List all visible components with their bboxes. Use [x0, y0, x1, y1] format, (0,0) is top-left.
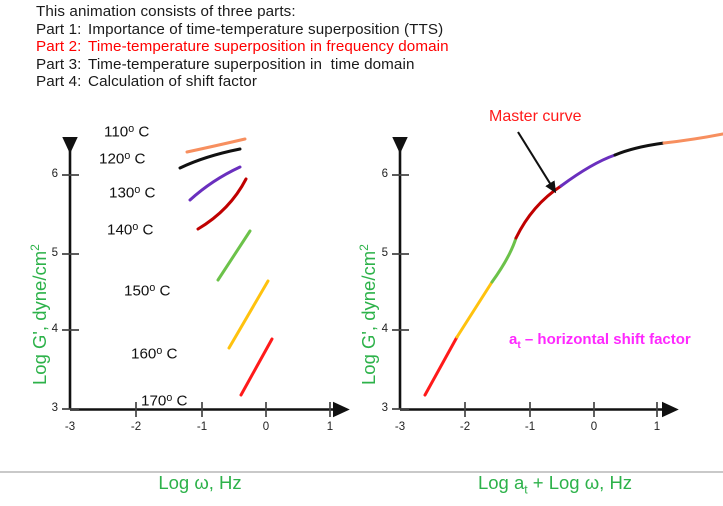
- temp-160-value: 160: [131, 345, 156, 362]
- header-line-2-label: Part 2:: [36, 38, 88, 56]
- curve-160c: [229, 281, 268, 348]
- left-ytick-5: 5: [42, 247, 58, 259]
- right-xtick-neg2: -2: [454, 421, 476, 433]
- shift-factor-text: – horizontal shift factor: [521, 331, 691, 348]
- temp-label-160c: 160o C: [131, 345, 177, 362]
- header-line-0-text: This animation consists of three parts:: [36, 3, 296, 20]
- temp-140-value: 140: [107, 221, 132, 238]
- temp-160-unit: C: [162, 345, 177, 362]
- curve-150c: [218, 231, 250, 280]
- master-seg-160c: [457, 282, 492, 337]
- left-ylabel-text: Log G', dyne/cm: [29, 251, 50, 385]
- header-line-4-text: Calculation of shift factor: [88, 73, 257, 90]
- left-xtick-0: 0: [255, 421, 277, 433]
- master-curve-label: Master curve: [489, 108, 581, 126]
- master-curve-path: [425, 134, 723, 395]
- curve-180c-170c: [241, 339, 272, 395]
- header-line-3: Part 3:Time-temperature superposition in…: [36, 56, 696, 74]
- intro-text-block: This animation consists of three parts: …: [36, 3, 696, 91]
- right-ylabel-text: Log G', dyne/cm: [358, 251, 379, 385]
- temp-110-unit: C: [134, 123, 149, 140]
- right-ylabel: Log G', dyne/cm2: [357, 244, 380, 385]
- left-ylabel-sup: 2: [28, 244, 42, 251]
- temp-label-170c: 170o C: [141, 392, 187, 409]
- right-xtick-neg1: -1: [519, 421, 541, 433]
- curve-130c: [190, 167, 240, 200]
- temp-110-value: 110: [104, 123, 128, 140]
- header-line-2-text: Time-temperature superposition in freque…: [88, 38, 449, 55]
- temp-label-140c: 140o C: [107, 221, 153, 238]
- header-line-4: Part 4:Calculation of shift factor: [36, 73, 696, 91]
- left-ytick-3: 3: [42, 402, 58, 414]
- temp-150-value: 150: [124, 282, 149, 299]
- right-ytick-4: 4: [372, 323, 388, 335]
- temp-170-unit: C: [172, 392, 187, 409]
- master-seg-120c: [615, 143, 664, 155]
- curve-110c: [187, 139, 245, 152]
- temp-150-unit: C: [155, 282, 170, 299]
- header-line-1-label: Part 1:: [36, 21, 88, 39]
- left-ytick-6: 6: [42, 168, 58, 180]
- header-line-0: This animation consists of three parts:: [36, 3, 696, 21]
- temp-130-unit: C: [140, 184, 155, 201]
- temp-130-value: 130: [109, 184, 134, 201]
- left-xtick-neg1: -1: [191, 421, 213, 433]
- header-line-1: Part 1:Importance of time-temperature su…: [36, 21, 696, 39]
- temp-label-150c: 150o C: [124, 282, 170, 299]
- master-seg-130c: [561, 155, 615, 186]
- curve-120c: [180, 149, 240, 168]
- master-seg-140c: [516, 186, 561, 238]
- header-line-3-text: Time-temperature superposition in time d…: [88, 56, 415, 73]
- temp-label-120c: 120o C: [99, 150, 145, 167]
- right-ytick-6: 6: [372, 168, 388, 180]
- left-chart-curves: [180, 139, 272, 395]
- left-xtick-neg2: -2: [125, 421, 147, 433]
- master-seg-150c: [492, 238, 516, 282]
- temp-120-unit: C: [130, 150, 145, 167]
- right-chart-axes: [392, 140, 665, 417]
- right-xlabel-post: + Log ω, Hz: [528, 472, 632, 493]
- temp-140-unit: C: [138, 221, 153, 238]
- curve-140c: [198, 179, 246, 229]
- right-ytick-5: 5: [372, 247, 388, 259]
- right-xtick-neg3: -3: [389, 421, 411, 433]
- left-xtick-1: 1: [319, 421, 341, 433]
- right-ytick-3: 3: [372, 402, 388, 414]
- header-line-2: Part 2:Time-temperature superposition in…: [36, 38, 696, 56]
- temp-label-130c: 130o C: [109, 184, 155, 201]
- left-chart-axes: [62, 140, 336, 417]
- right-ylabel-sup: 2: [357, 244, 371, 251]
- left-ylabel: Log G', dyne/cm2: [28, 244, 51, 385]
- right-xtick-0: 0: [583, 421, 605, 433]
- header-line-4-label: Part 4:: [36, 73, 88, 91]
- left-xtick-neg3: -3: [59, 421, 81, 433]
- master-seg-170c: [425, 337, 457, 395]
- temp-label-110c: 110o C: [104, 123, 149, 140]
- right-xlabel-pre: Log a: [478, 472, 524, 493]
- slide-canvas: This animation consists of three parts: …: [0, 0, 723, 506]
- temp-170-value: 170: [141, 392, 166, 409]
- temp-120-value: 120: [99, 150, 124, 167]
- master-curve-arrow: [518, 132, 551, 185]
- right-xtick-1: 1: [646, 421, 668, 433]
- footer-divider: [0, 471, 723, 473]
- left-xlabel: Log ω, Hz: [120, 472, 280, 494]
- header-line-1-text: Importance of time-temperature superposi…: [88, 21, 443, 38]
- header-line-3-label: Part 3:: [36, 56, 88, 74]
- right-xlabel: Log at + Log ω, Hz: [440, 472, 670, 497]
- shift-factor-label: at – horizontal shift factor: [509, 331, 691, 351]
- left-ytick-4: 4: [42, 323, 58, 335]
- master-seg-110c: [664, 134, 723, 143]
